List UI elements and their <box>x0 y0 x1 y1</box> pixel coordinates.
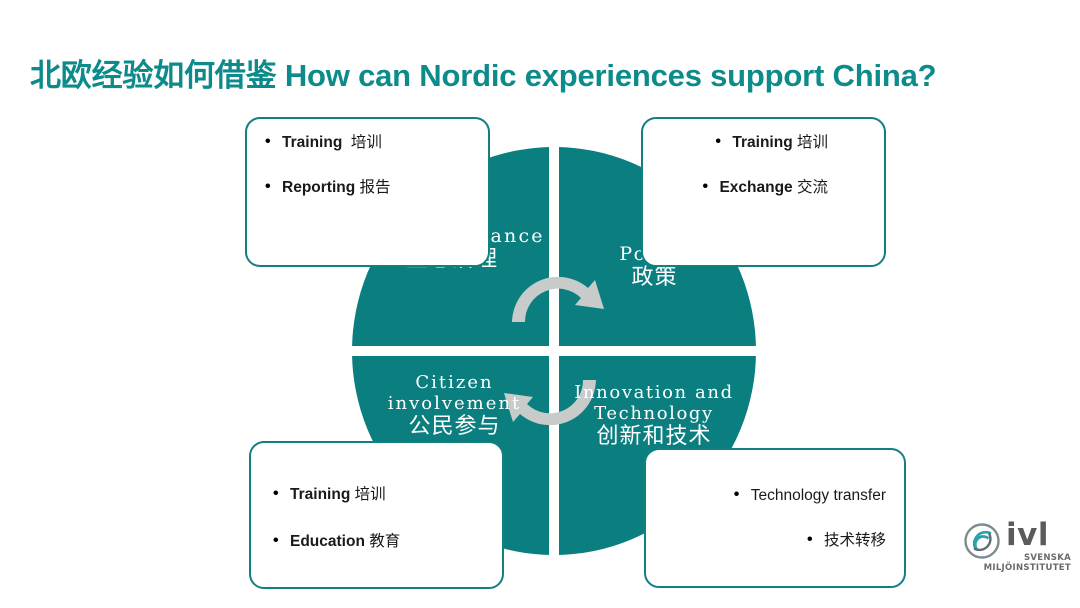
callout-bottom-right-list: Technology transfer 技术转移 <box>646 450 904 551</box>
callout-top-left-list: Training 培训 Reporting 报告 <box>247 119 488 198</box>
item-en: Training <box>732 134 792 151</box>
cycle-arrows-icon <box>504 277 604 425</box>
item-cn: 报告 <box>360 178 391 196</box>
ivl-tagline-line1: SVENSKA <box>1007 553 1071 563</box>
item-en: Reporting <box>282 179 355 196</box>
page-title-chinese: 北欧经验如何借鉴 <box>30 58 276 94</box>
list-item: Education 教育 <box>273 532 502 551</box>
page-title-english: How can Nordic experiences support China… <box>285 58 937 93</box>
list-item: Training 培训 <box>715 133 856 152</box>
ivl-swirl-icon <box>963 522 1001 560</box>
item-cn: 培训 <box>797 133 828 151</box>
item-en: Technology transfer <box>751 487 886 504</box>
item-cn: 培训 <box>355 485 386 503</box>
item-en: Training <box>282 134 342 151</box>
ivl-tagline-line2: MILJÖINSTITUTET <box>963 563 1071 573</box>
list-item: Training 培训 <box>273 485 502 504</box>
item-en: Training <box>290 486 350 503</box>
callout-top-right[interactable]: Training 培训 Exchange 交流 <box>641 117 886 267</box>
page-title: 北欧经验如何借鉴 How can Nordic experiences supp… <box>30 50 936 95</box>
item-cn: 培训 <box>351 133 382 151</box>
callout-bottom-left-list: Training 培训 Education 教育 <box>251 443 502 552</box>
list-item: 技术转移 <box>807 531 886 550</box>
callout-top-left[interactable]: Training 培训 Reporting 报告 <box>245 117 490 267</box>
callout-bottom-left[interactable]: Training 培训 Education 教育 <box>249 441 504 589</box>
item-cn: 技术转移 <box>824 531 886 549</box>
item-cn: 交流 <box>797 178 828 196</box>
callout-bottom-right[interactable]: Technology transfer 技术转移 <box>644 448 906 588</box>
item-en: Exchange <box>719 179 792 196</box>
list-item: Exchange 交流 <box>702 178 856 197</box>
list-item: Training 培训 <box>265 133 488 152</box>
ivl-wordmark: ivl <box>1006 520 1049 551</box>
list-item: Reporting 报告 <box>265 178 488 197</box>
ivl-logo: ivl SVENSKA MILJÖINSTITUTET <box>963 522 1071 584</box>
item-cn: 教育 <box>369 532 400 550</box>
item-en: Education <box>290 533 365 550</box>
callout-top-right-list: Training 培训 Exchange 交流 <box>643 119 884 198</box>
list-item: Technology transfer <box>734 486 886 505</box>
